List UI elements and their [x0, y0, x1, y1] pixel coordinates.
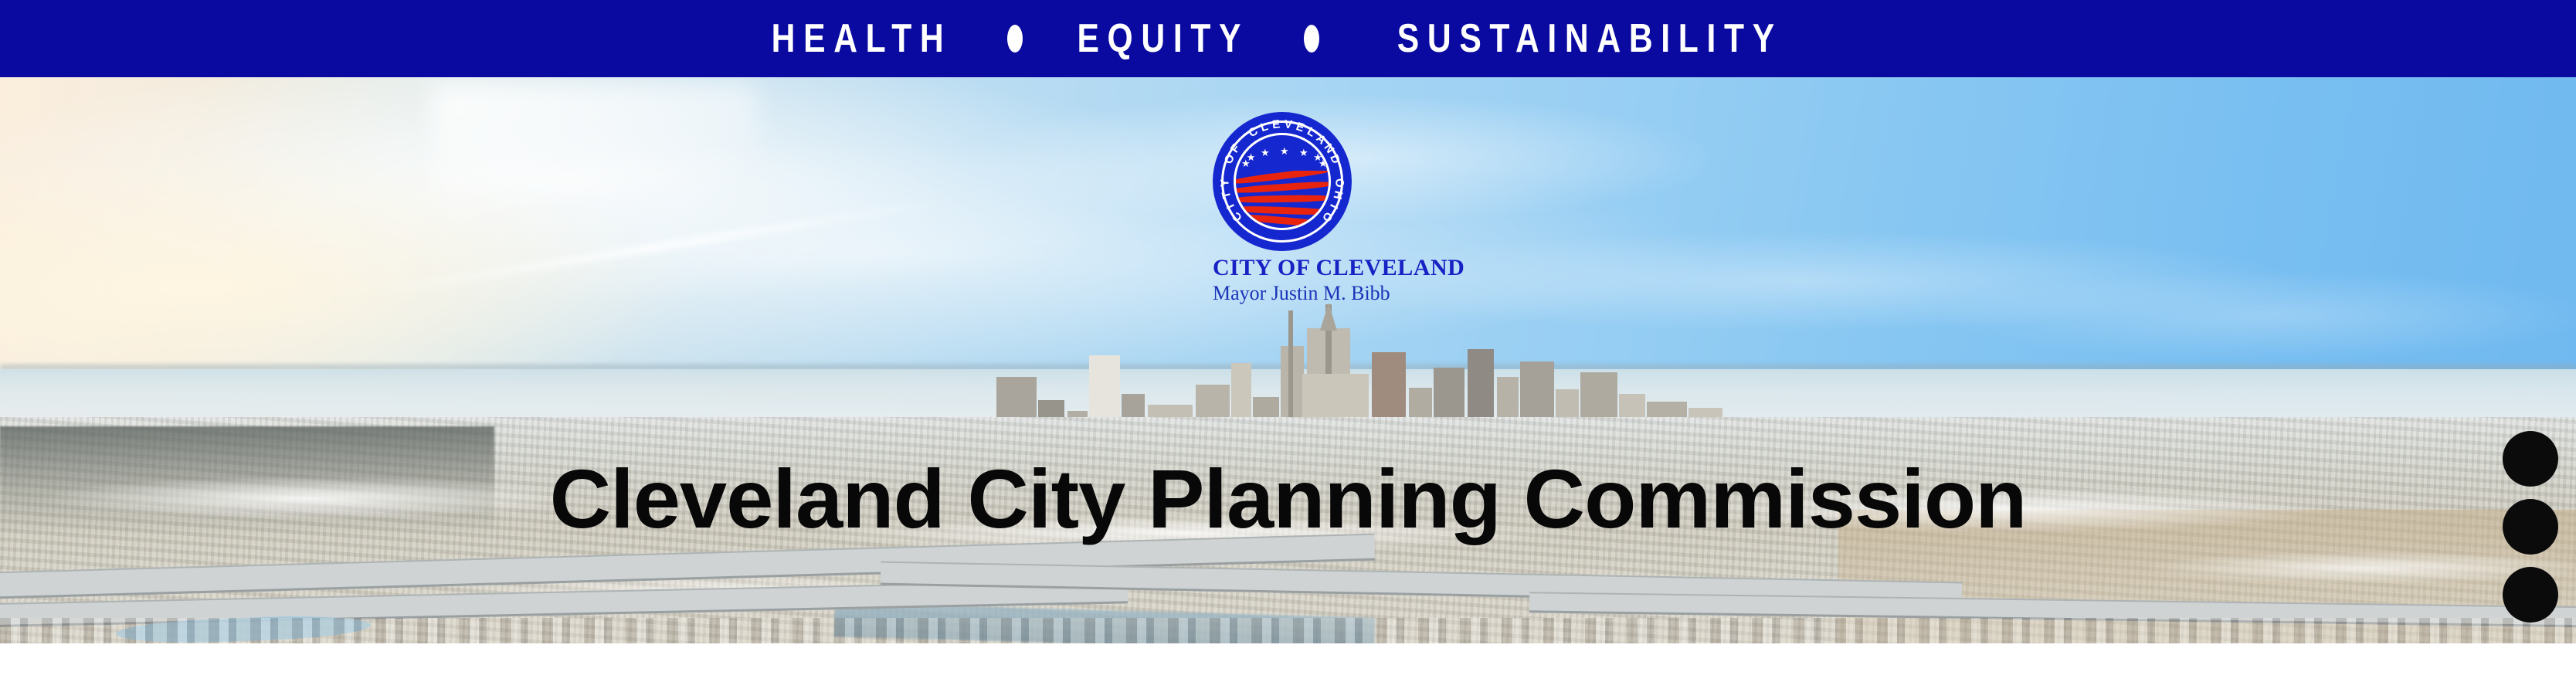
tagline-word-health: HEALTH: [772, 19, 952, 59]
youtube-icon[interactable]: [2503, 431, 2558, 487]
wordmark-city-of-cleveland: CITY OF CLEVELAND: [1213, 256, 1352, 280]
wordmark-mayor: Mayor Justin M. Bibb: [1213, 282, 1352, 305]
tagline-banner: HEALTH EQUITY SUSTAINABILITY: [0, 0, 2576, 77]
tagline-word-sustainability: SUSTAINABILITY: [1397, 19, 1782, 59]
tagline-word-equity: EQUITY: [1077, 19, 1249, 59]
cloud-plume: [433, 85, 757, 239]
page-title: Cleveland City Planning Commission: [0, 457, 2576, 541]
seal-stars: ★★★★★★★: [1236, 143, 1329, 163]
facebook-icon[interactable]: [2503, 567, 2558, 623]
instagram-icon[interactable]: [2503, 499, 2558, 555]
bottom-white-strip: [0, 643, 2576, 682]
tagline-separator-dot-1: [1007, 25, 1023, 53]
social-links: [2503, 431, 2560, 635]
city-branding: CITY OF CLEVELAND OHIO ★★★★★★★ CITY OF C…: [1213, 112, 1352, 304]
tagline-separator-dot-2: [1304, 25, 1319, 53]
seal-flag: [1236, 171, 1329, 228]
city-of-cleveland-seal-icon: CITY OF CLEVELAND OHIO ★★★★★★★: [1213, 112, 1352, 251]
tagline-banner-inner: HEALTH EQUITY SUSTAINABILITY: [752, 19, 1824, 59]
seal-core: ★★★★★★★: [1234, 133, 1331, 230]
residential-rowhouses: [0, 618, 2576, 643]
planning-commission-banner: HEALTH EQUITY SUSTAINABILITY: [0, 0, 2576, 682]
